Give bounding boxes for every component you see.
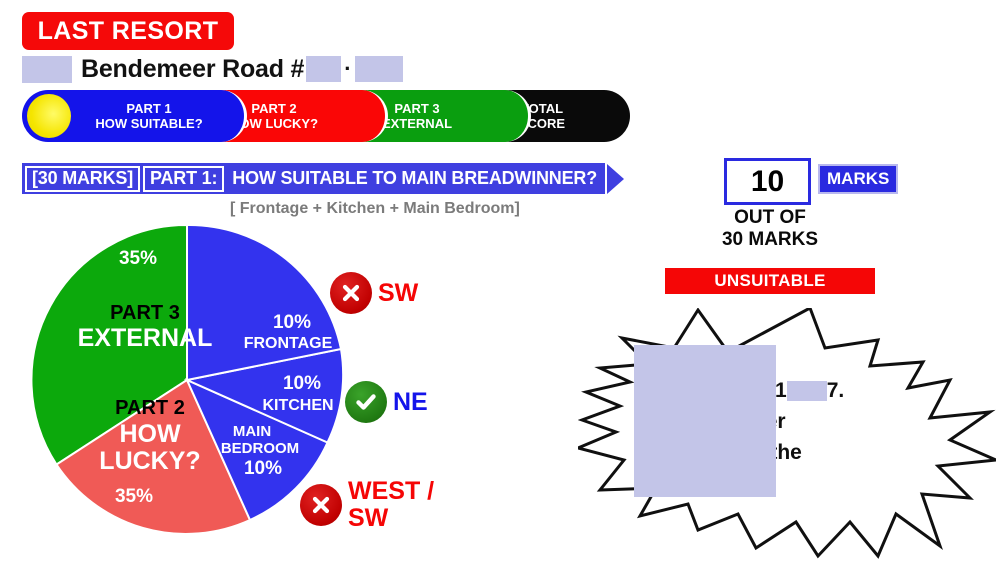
callout-redaction-3 — [787, 381, 827, 401]
out-of-line-1: OUT OF — [715, 207, 825, 229]
verdict-badge: UNSUITABLE — [665, 268, 875, 294]
cross-icon-glyph — [339, 281, 363, 305]
pie-label-frontage-percent: 10% — [273, 312, 311, 333]
marks-chip: MARKS — [818, 164, 898, 194]
pie-label-kitchen: KITCHEN — [262, 397, 333, 414]
check-icon — [345, 381, 387, 423]
check-icon-glyph — [353, 389, 379, 415]
last-resort-label: LAST RESORT — [38, 17, 219, 46]
direction-badge-sw[interactable]: SW — [330, 272, 418, 314]
score-value-box: 10 — [724, 158, 811, 205]
nav-item-part-1-label: PART 1 HOW SUITABLE? — [95, 101, 202, 131]
pie-label-part2-percent: 35% — [115, 486, 153, 507]
cross-icon-glyph — [309, 493, 333, 517]
address-line: Bendemeer Road # · — [22, 53, 403, 85]
address-text: Bendemeer Road # — [81, 55, 304, 84]
part-1-subtitle: [ Frontage + Kitchen + Main Bedroom] — [230, 200, 520, 218]
pie-label-part2-line3: LUCKY? — [99, 447, 200, 475]
pie-chart-svg: 35% PART 3 EXTERNAL 10% FRONTAGE 10% KIT… — [30, 224, 345, 536]
pie-label-bedroom-percent: 10% — [244, 458, 282, 479]
out-of-text: OUT OF 30 MARKS — [715, 207, 825, 251]
address-separator: · — [344, 56, 351, 82]
address-redaction-1 — [22, 56, 72, 83]
pie-label-part3-line2: EXTERNAL — [78, 324, 213, 352]
address-redaction-2 — [306, 56, 341, 82]
part-tag: PART 1: — [143, 166, 224, 192]
direction-badge-sw-label: SW — [378, 280, 418, 307]
cross-icon — [300, 484, 342, 526]
nav-item-part-3-label: PART 3 EXTERNAL — [382, 101, 452, 131]
pie-label-bedroom-line2: BEDROOM — [221, 440, 299, 457]
part-1-banner-bar: [30 MARKS] PART 1: HOW SUITABLE TO MAIN … — [22, 163, 605, 194]
cross-icon — [330, 272, 372, 314]
pie-label-part3-line1: PART 3 — [110, 302, 180, 324]
part-navigation-bar: TOTAL SCORE PART 3 EXTERNAL PART 2 HOW L… — [22, 90, 630, 142]
pie-label-frontage: FRONTAGE — [244, 335, 333, 352]
out-of-line-2: 30 MARKS — [715, 229, 825, 251]
callout-redaction-block — [634, 345, 776, 497]
address-redaction-3 — [355, 56, 403, 82]
part-1-banner: [30 MARKS] PART 1: HOW SUITABLE TO MAIN … — [22, 163, 624, 194]
pie-label-kitchen-percent: 10% — [283, 373, 321, 394]
direction-badge-ne-label: NE — [393, 389, 428, 416]
suitability-pie-chart: 35% PART 3 EXTERNAL 10% FRONTAGE 10% KIT… — [30, 224, 345, 536]
pie-label-part2-line1: PART 2 — [115, 397, 185, 419]
starburst-callout: he score as s #'-17. tead of master uita… — [578, 308, 996, 563]
banner-arrow-icon — [607, 164, 624, 194]
direction-badge-ne[interactable]: NE — [345, 381, 428, 423]
part-1-question: HOW SUITABLE TO MAIN BREADWINNER? — [232, 168, 597, 189]
score-value: 10 — [751, 165, 784, 199]
last-resort-badge: LAST RESORT — [22, 12, 234, 50]
sun-icon — [27, 94, 71, 138]
direction-badge-west-sw-label: WEST / SW — [348, 478, 434, 532]
callout-line-2-d: 7. — [827, 379, 845, 402]
marks-chip-label: MARKS — [827, 169, 889, 189]
marks-tag: [30 MARKS] — [25, 166, 140, 192]
pie-label-part2-line2: HOW — [119, 420, 181, 448]
pie-label-part3-percent: 35% — [119, 248, 157, 269]
direction-badge-west-sw[interactable]: WEST / SW — [300, 478, 434, 532]
verdict-label: UNSUITABLE — [714, 271, 825, 291]
pie-label-bedroom-line1: MAIN — [233, 423, 271, 440]
